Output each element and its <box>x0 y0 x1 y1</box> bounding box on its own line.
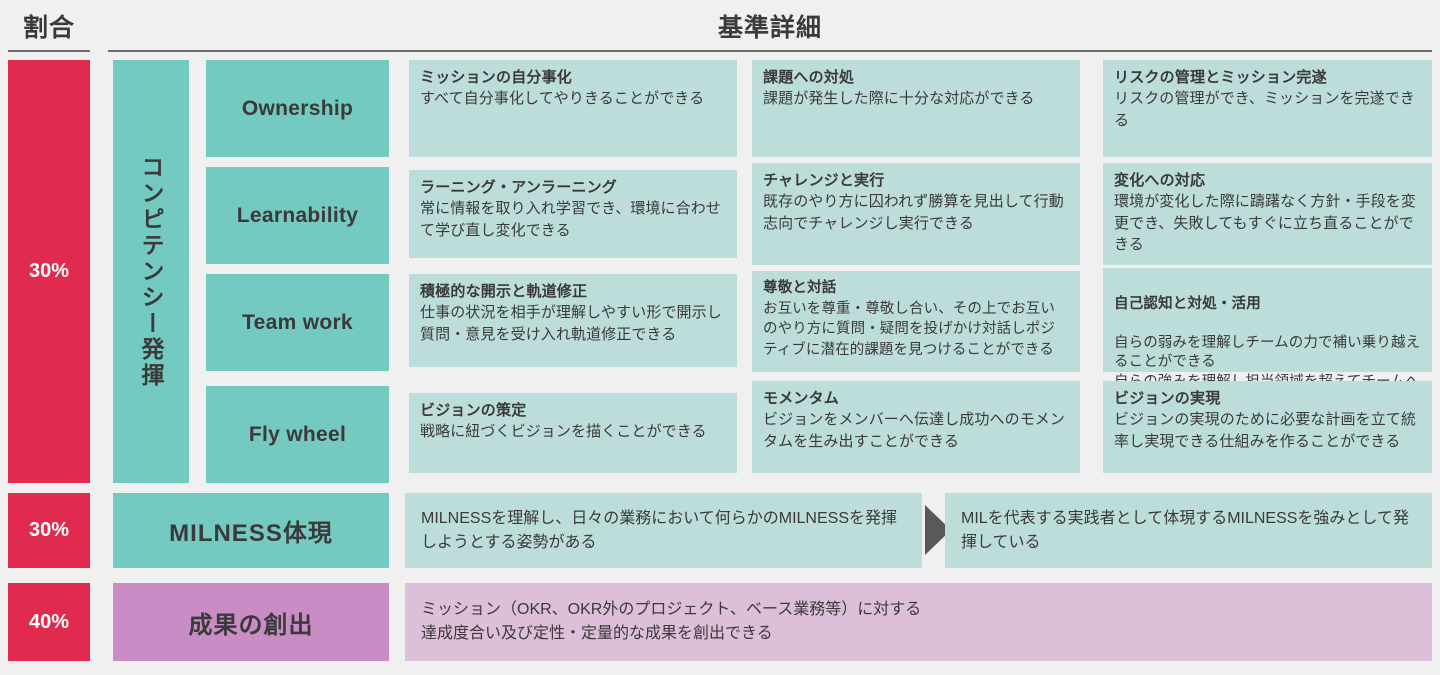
results-statement: ミッション（OKR、OKR外のプロジェクト、ベース業務等）に対する 達成度合い及… <box>405 583 1432 661</box>
criteria-desc: ビジョンをメンバーへ伝達し成功へのモメンタムを生み出すことができる <box>763 409 1069 452</box>
criteria-cell: 尊敬と対話 お互いを尊重・尊敬し合い、その上でお互いのやり方に質問・疑問を投げか… <box>752 271 1080 372</box>
criteria-cell: チャレンジと実行 既存のやり方に囚われず勝算を見出して行動志向でチャレンジし実行… <box>752 163 1080 265</box>
criteria-title: モメンタム <box>763 388 1069 409</box>
percent-badge-results: 40% <box>8 583 90 661</box>
criteria-cell: 積極的な開示と軌道修正 仕事の状況を相手が理解しやすい形で開示し質問・意見を受け… <box>409 274 737 367</box>
criteria-title: 自己認知と対処・活用 <box>1114 295 1421 315</box>
subcategory-fly-wheel: Fly wheel <box>206 386 389 483</box>
criteria-desc: 仕事の状況を相手が理解しやすい形で開示し質問・意見を受け入れ軌道修正できる <box>420 302 726 345</box>
header-ratio-label: 割合 <box>8 0 90 52</box>
criteria-desc: 戦略に紐づくビジョンを描くことができる <box>420 421 726 442</box>
subcategory-team-work: Team work <box>206 274 389 371</box>
criteria-cell: 課題への対処 課題が発生した際に十分な対応ができる <box>752 60 1080 157</box>
criteria-desc: 環境が変化した際に躊躇なく方針・手段を変更でき、失敗してもすぐに立ち直ることがで… <box>1114 191 1421 255</box>
percent-badge-milness: 30% <box>8 493 90 568</box>
milness-level-2: MILを代表する実践者として体現するMILNESSを強みとして発揮している <box>945 493 1432 568</box>
criteria-title: チャレンジと実行 <box>763 170 1069 191</box>
criteria-cell: ラーニング・アンラーニング 常に情報を取り入れ学習でき、環境に合わせて学び直し変… <box>409 170 737 258</box>
criteria-title: ビジョンの実現 <box>1114 388 1421 409</box>
category-label-milness: MILNESS体現 <box>113 493 389 568</box>
header-divider-right <box>108 50 1432 52</box>
criteria-desc: お互いを尊重・尊敬し合い、その上でお互いのやり方に質問・疑問を投げかけ対話しポジ… <box>763 299 1069 361</box>
criteria-title: ラーニング・アンラーニング <box>420 177 726 198</box>
criteria-cell: 自己認知と対処・活用 自らの弱みを理解しチームの力で補い乗り越えることができる … <box>1103 268 1432 372</box>
criteria-cell: ビジョンの実現 ビジョンの実現のために必要な計画を立て統率し実現できる仕組みを作… <box>1103 381 1432 473</box>
criteria-title: ビジョンの策定 <box>420 400 726 421</box>
criteria-desc: リスクの管理ができ、ミッションを完遂できる <box>1114 88 1421 131</box>
percent-badge-competency: 30% <box>8 60 90 483</box>
category-label-competency: コンピテンシー発揮 <box>113 60 189 483</box>
subcategory-learnability: Learnability <box>206 167 389 264</box>
criteria-cell: ミッションの自分事化 すべて自分事化してやりきることができる <box>409 60 737 157</box>
evaluation-criteria-sheet: 割合 基準詳細 30% コンピテンシー発揮 Ownership ミッションの自分… <box>0 0 1440 675</box>
criteria-desc: 課題が発生した際に十分な対応ができる <box>763 88 1069 109</box>
criteria-desc: 既存のやり方に囚われず勝算を見出して行動志向でチャレンジし実行できる <box>763 191 1069 234</box>
subcategory-ownership: Ownership <box>206 60 389 157</box>
criteria-cell: リスクの管理とミッション完遂 リスクの管理ができ、ミッションを完遂できる <box>1103 60 1432 157</box>
criteria-desc: すべて自分事化してやりきることができる <box>420 88 726 109</box>
criteria-title: 尊敬と対話 <box>763 278 1069 299</box>
table-header: 割合 基準詳細 <box>0 0 1440 52</box>
criteria-title: 変化への対応 <box>1114 170 1421 191</box>
criteria-title: リスクの管理とミッション完遂 <box>1114 67 1421 88</box>
criteria-title: 積極的な開示と軌道修正 <box>420 281 726 302</box>
criteria-cell: ビジョンの策定 戦略に紐づくビジョンを描くことができる <box>409 393 737 473</box>
milness-level-1: MILNESSを理解し、日々の業務において何らかのMILNESSを発揮しようとす… <box>405 493 922 568</box>
criteria-title: 課題への対処 <box>763 67 1069 88</box>
category-label-results: 成果の創出 <box>113 583 389 661</box>
header-divider-left <box>8 50 90 52</box>
criteria-desc: 常に情報を取り入れ学習でき、環境に合わせて学び直し変化できる <box>420 198 726 241</box>
criteria-title: ミッションの自分事化 <box>420 67 726 88</box>
criteria-cell: 変化への対応 環境が変化した際に躊躇なく方針・手段を変更でき、失敗してもすぐに立… <box>1103 163 1432 265</box>
criteria-desc: ビジョンの実現のために必要な計画を立て統率し実現できる仕組みを作ることができる <box>1114 409 1421 452</box>
header-detail-label: 基準詳細 <box>108 0 1432 52</box>
criteria-cell: モメンタム ビジョンをメンバーへ伝達し成功へのモメンタムを生み出すことができる <box>752 381 1080 473</box>
